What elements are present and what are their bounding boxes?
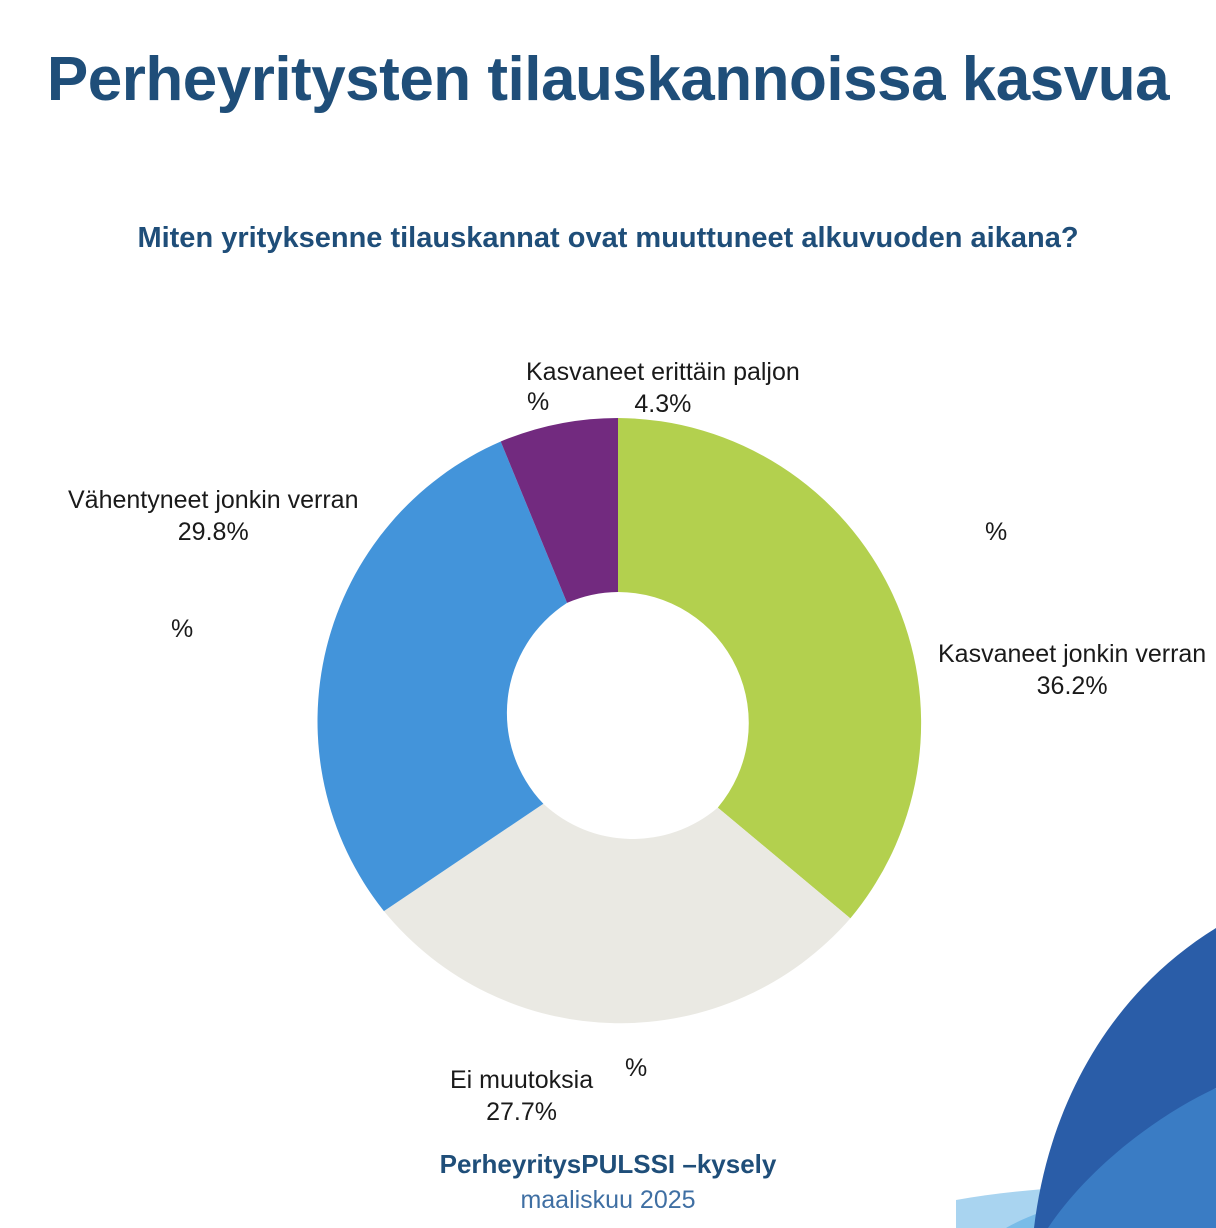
slice-label-kasvaneet-jonkin-verran: Kasvaneet jonkin verran 36.2% (938, 638, 1206, 702)
chart-question-subtitle: Miten yrityksenne tilauskannat ovat muut… (0, 219, 1216, 258)
footer-survey-name: PerheyritysPULSSI –kysely (0, 1148, 1216, 1182)
donut-chart-svg (313, 418, 923, 1028)
donut-chart: Kasvaneet erittäin paljon 4.3% Kasvaneet… (0, 0, 1216, 1228)
infographic-canvas: Perheyritysten tilauskannoissa kasvua Mi… (0, 0, 1216, 1228)
slice-label-value: 29.8% (68, 516, 358, 548)
footer: PerheyritysPULSSI –kysely maaliskuu 2025 (0, 1148, 1216, 1216)
slice-label-vahentyneet-jonkin-verran: Vähentyneet jonkin verran 29.8% (68, 484, 358, 548)
stray-percent-symbol-right: % (985, 518, 1007, 547)
slice-label-ei-muutoksia: Ei muutoksia 27.7% (450, 1064, 593, 1128)
slice-label-kasvaneet-eritt-paljon: Kasvaneet erittäin paljon 4.3% (526, 356, 800, 420)
slice-label-name: Vähentyneet jonkin verran (68, 484, 358, 516)
footer-survey-date: maaliskuu 2025 (0, 1184, 1216, 1217)
stray-percent-symbol-bottom: % (625, 1054, 647, 1083)
stray-percent-symbol-left: % (171, 615, 193, 644)
slice-label-value: 36.2% (938, 670, 1206, 702)
slice-label-name: Ei muutoksia (450, 1064, 593, 1096)
stray-percent-symbol-top-left: % (527, 388, 549, 417)
slice-label-value: 27.7% (450, 1096, 593, 1128)
donut-slices (318, 418, 922, 1023)
slice-label-name: Kasvaneet erittäin paljon (526, 356, 800, 388)
slice-label-name: Kasvaneet jonkin verran (938, 638, 1206, 670)
page-title: Perheyritysten tilauskannoissa kasvua (0, 48, 1216, 111)
slice-label-value: 4.3% (526, 388, 800, 420)
